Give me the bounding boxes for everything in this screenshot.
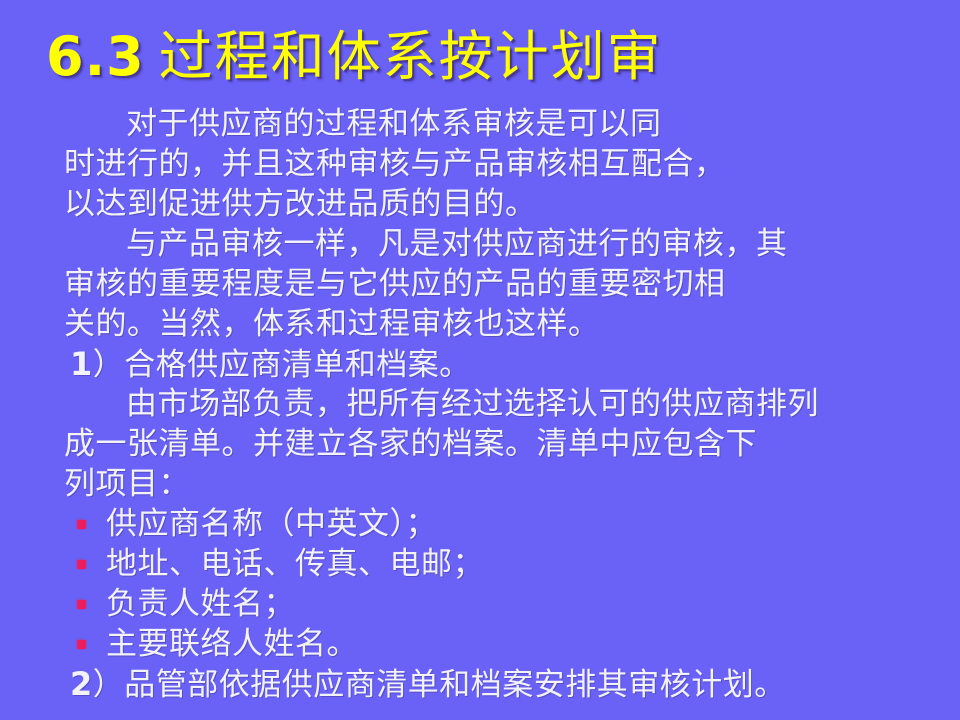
paragraph-line: 对于供应商的过程和体系审核是可以同 [64, 104, 924, 144]
numbered-list-item-number: 1 [70, 345, 93, 383]
bullet-square-icon [77, 560, 86, 569]
slide-title-number: 6.3 [46, 30, 145, 84]
numbered-list-item-label: ）合格供应商清单和档案。 [93, 347, 471, 383]
slide-title-text: 过程和体系按计划审 [159, 30, 663, 84]
bullet-list-item: 主要联络人姓名。 [64, 624, 924, 664]
numbered-list-item: 2）品管部依据供应商清单和档案安排其审核计划。 [64, 664, 924, 704]
bullet-list-item-label: 供应商名称（中英文）； [106, 506, 437, 542]
paragraph-line: 与产品审核一样，凡是对供应商进行的审核，其 [64, 224, 924, 264]
bullet-list-item: 地址、电话、传真、电邮； [64, 544, 924, 584]
bullet-square-icon [77, 600, 86, 609]
slide-title: 6.3 过程和体系按计划审 [46, 21, 926, 93]
presentation-slide: 6.3 过程和体系按计划审 对于供应商的过程和体系审核是可以同时进行的，并且这种… [0, 0, 960, 720]
paragraph-line: 关的。当然，体系和过程审核也这样。 [64, 304, 924, 344]
bullet-square-icon [77, 640, 86, 649]
paragraph-line: 由市场部负责，把所有经过选择认可的供应商排列 [64, 384, 924, 424]
numbered-list-item-label: ）品管部依据供应商清单和档案安排其审核计划。 [93, 667, 786, 703]
numbered-list-item-number: 2 [70, 665, 93, 703]
paragraph-line: 以达到促进供方改进品质的目的。 [64, 184, 924, 224]
paragraph-line: 审核的重要程度是与它供应的产品的重要密切相 [64, 264, 924, 304]
paragraph-line: 时进行的，并且这种审核与产品审核相互配合， [64, 144, 924, 184]
bullet-list-item: 供应商名称（中英文）； [64, 504, 924, 544]
slide-body: 对于供应商的过程和体系审核是可以同时进行的，并且这种审核与产品审核相互配合，以达… [64, 104, 924, 704]
numbered-list-item: 1）合格供应商清单和档案。 [64, 344, 924, 384]
paragraph-line: 成一张清单。并建立各家的档案。清单中应包含下 [64, 424, 924, 464]
bullet-list-item-label: 地址、电话、传真、电邮； [106, 546, 484, 582]
bullet-square-icon [77, 520, 86, 529]
bullet-list-item: 负责人姓名； [64, 584, 924, 624]
paragraph-line: 列项目： [64, 464, 924, 504]
bullet-list-item-label: 负责人姓名； [106, 586, 295, 622]
bullet-list-item-label: 主要联络人姓名。 [106, 626, 358, 662]
